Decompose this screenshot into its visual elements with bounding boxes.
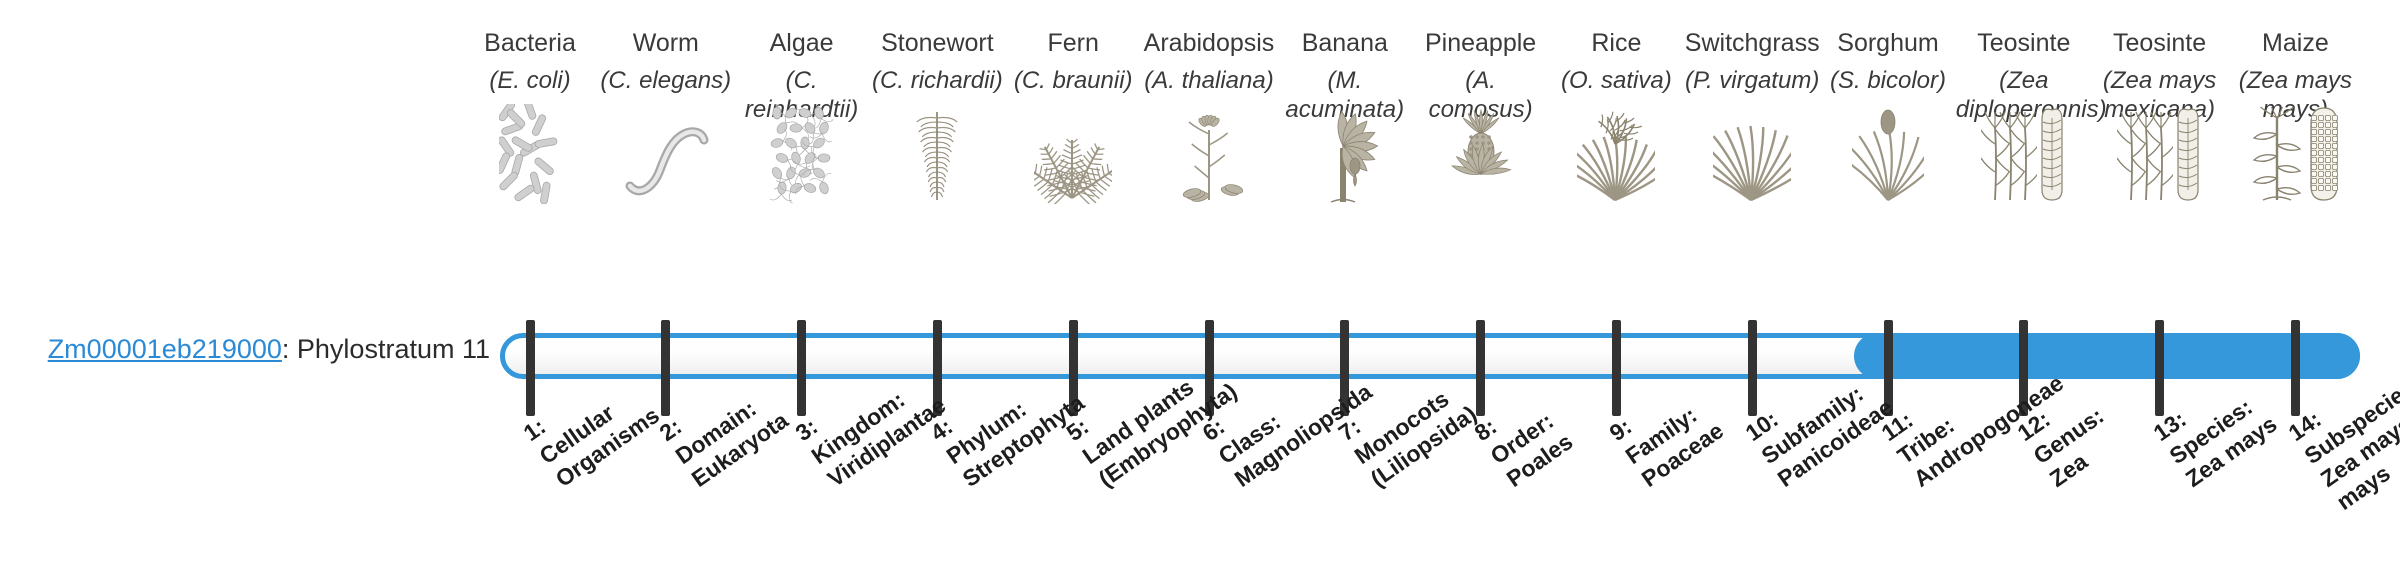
gene-label-separator: : bbox=[282, 334, 297, 364]
species-common-name: Teosinte bbox=[1956, 28, 2092, 58]
switchgrass-icon bbox=[1684, 112, 1820, 204]
species-common-name: Sorghum bbox=[1820, 28, 1956, 58]
maize-plant-cob-icon bbox=[2227, 112, 2363, 204]
phylostratum-label: 9: Family: Poaceae bbox=[1604, 370, 1729, 492]
species-scientific-name: (E. coli) bbox=[462, 66, 598, 95]
species-common-name: Stonewort bbox=[869, 28, 1005, 58]
species-scientific-name: (O. sativa) bbox=[1548, 66, 1684, 95]
rice-plant-icon bbox=[1548, 112, 1684, 204]
sorghum-icon bbox=[1820, 112, 1956, 204]
species-scientific-name: (C. richardii) bbox=[869, 66, 1005, 95]
axis-tick bbox=[526, 320, 535, 416]
axis-tick bbox=[1748, 320, 1757, 416]
axis-tick bbox=[1612, 320, 1621, 416]
bacteria-rods-icon bbox=[462, 112, 598, 204]
phylostratigraphy-figure: Zm00001eb219000: Phylostratum 11 Bacteri… bbox=[0, 0, 2400, 580]
species-column: Switchgrass (P. virgatum) bbox=[1684, 28, 1820, 95]
species-common-name: Banana bbox=[1277, 28, 1413, 58]
arabidopsis-icon bbox=[1141, 112, 1277, 204]
species-common-name: Bacteria bbox=[462, 28, 598, 58]
species-common-name: Maize bbox=[2227, 28, 2363, 58]
species-common-name: Switchgrass bbox=[1684, 28, 1820, 58]
axis-tick bbox=[2155, 320, 2164, 416]
phylostratum-label: 2: Domain: Eukaryota bbox=[654, 360, 793, 493]
species-common-name: Algae bbox=[734, 28, 870, 58]
nematode-worm-icon bbox=[598, 112, 734, 204]
species-scientific-name: (C. elegans) bbox=[598, 66, 734, 95]
teosinte-plant-ear-icon bbox=[2092, 112, 2228, 204]
species-column: Arabidopsis (A. thaliana) bbox=[1141, 28, 1277, 95]
algae-cells-icon bbox=[734, 112, 870, 204]
species-column: Fern (C. braunii) bbox=[1005, 28, 1141, 95]
species-common-name: Fern bbox=[1005, 28, 1141, 58]
banana-plant-icon bbox=[1277, 112, 1413, 204]
species-column: Sorghum (S. bicolor) bbox=[1820, 28, 1956, 95]
species-scientific-name: (P. virgatum) bbox=[1684, 66, 1820, 95]
species-common-name: Worm bbox=[598, 28, 734, 58]
species-column: Rice (O. sativa) bbox=[1548, 28, 1684, 95]
teosinte-plant-ear-icon bbox=[1956, 112, 2092, 204]
species-column: Bacteria (E. coli) bbox=[462, 28, 598, 95]
species-common-name: Rice bbox=[1548, 28, 1684, 58]
species-common-name: Arabidopsis bbox=[1141, 28, 1277, 58]
species-column: Stonewort (C. richardii) bbox=[869, 28, 1005, 95]
axis-tick bbox=[797, 320, 806, 416]
species-scientific-name: (C. braunii) bbox=[1005, 66, 1141, 95]
axis-tick bbox=[2291, 320, 2300, 416]
axis-tick bbox=[1476, 320, 1485, 416]
gene-phylostratum-label: Zm00001eb219000: Phylostratum 11 bbox=[0, 336, 490, 363]
species-scientific-name: (S. bicolor) bbox=[1820, 66, 1956, 95]
phylostratum-label: 13: Species: Zea mays bbox=[2148, 364, 2282, 493]
species-scientific-name: (A. thaliana) bbox=[1141, 66, 1277, 95]
gene-id-link[interactable]: Zm00001eb219000 bbox=[48, 334, 282, 364]
pineapple-icon bbox=[1413, 112, 1549, 204]
axis-tick bbox=[661, 320, 670, 416]
species-common-name: Teosinte bbox=[2092, 28, 2228, 58]
species-column: Worm (C. elegans) bbox=[598, 28, 734, 95]
species-common-name: Pineapple bbox=[1413, 28, 1549, 58]
phylostratum-value-text: Phylostratum 11 bbox=[297, 334, 490, 364]
phylostratum-fill bbox=[1854, 333, 2360, 379]
stonewort-icon bbox=[869, 112, 1005, 204]
fern-icon bbox=[1005, 112, 1141, 204]
